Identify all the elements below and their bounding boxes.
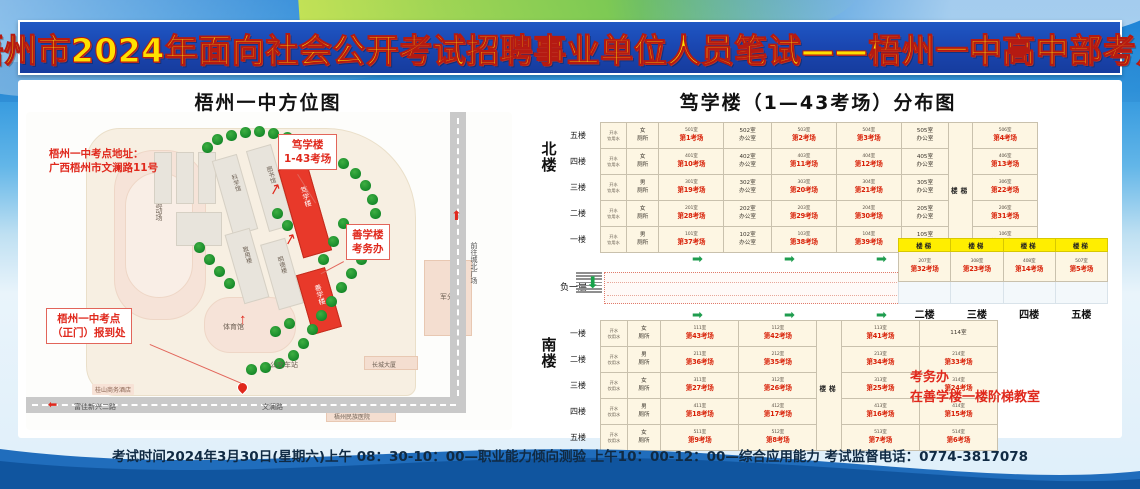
north-floor-labels: 五楼四楼三楼二楼一楼 (570, 122, 586, 252)
room-cell: 202室办公室 (724, 201, 772, 227)
floor-label-四楼: 四楼 (570, 148, 586, 174)
stair-landing-table: 楼梯楼梯楼梯楼梯207室第32考场308室第23考场408室第14考场507室第… (898, 238, 1108, 321)
tree (328, 236, 339, 247)
floor-label-二楼: 二楼 (570, 200, 586, 226)
spacer-cell (899, 282, 951, 304)
north-building-table: 开水饮用水女厕所501室第1考场502室办公室503室第2考场504室第3考场5… (600, 122, 1038, 253)
tree (214, 266, 225, 277)
floor-label-三楼: 三楼 (570, 372, 586, 398)
room-cell: 开水饮用水 (601, 201, 627, 227)
content-panel: 梧州一中方位图 运动场 体育馆 科学馆 (18, 80, 1122, 438)
tree (272, 208, 283, 219)
room-cell: 413室第16考场 (841, 399, 919, 425)
map-label-to-north-square: 前往城北广场 (469, 242, 479, 284)
tree (338, 158, 349, 169)
stair-header-cell: 楼梯 (951, 239, 1003, 252)
tree (350, 168, 361, 179)
tree (316, 310, 327, 321)
road-centerline-right (457, 118, 459, 396)
tree (367, 194, 378, 205)
floor-label-三楼: 三楼 (951, 304, 1003, 322)
room-cell: 113室第41考场 (841, 321, 919, 347)
room-cell: 开水饮用水 (601, 149, 627, 175)
tree (194, 242, 205, 253)
callout-duxue-line2: 1-43考场 (284, 153, 331, 165)
note-line1: 考务办 (910, 370, 949, 385)
tree (202, 142, 213, 153)
room-cell: 101室第37考场 (659, 227, 724, 253)
callout-duxue-building: 笃学楼 1-43考场 (278, 134, 337, 170)
room-cell: 311室第27考场 (661, 373, 739, 399)
callout-gate-line2: （正门）报到处 (52, 327, 126, 339)
room-cell: 114室 (919, 321, 997, 347)
room-cell: 306室第22考场 (973, 175, 1038, 201)
room-cell: 开水饮用水 (601, 347, 628, 373)
table-row: 开水饮用水女厕所501室第1考场502室办公室503室第2考场504室第3考场5… (601, 123, 1038, 149)
room-cell: 207室第32考场 (899, 252, 951, 282)
road-arrow-left-icon: ⬅ (48, 398, 57, 411)
callout-duxue-line1: 笃学楼 (292, 139, 324, 151)
room-cell: 403室第11考场 (771, 149, 836, 175)
room-cell: 205室办公室 (901, 201, 949, 227)
flow-arrow-3-icon: ➡ (876, 252, 887, 265)
room-cell: 507室第5考场 (1055, 252, 1107, 282)
tree (298, 338, 309, 349)
room-cell: 402室办公室 (724, 149, 772, 175)
room-cell: 501室第1考场 (659, 123, 724, 149)
tree (336, 282, 347, 293)
room-cell: 308室第23考场 (951, 252, 1003, 282)
tree (270, 326, 281, 337)
room-cell: 女厕所 (626, 201, 658, 227)
tree (224, 278, 235, 289)
basement-stair-arrow-icon: ⬇ (586, 276, 599, 292)
callout-gate-line1: 梧州一中考点 (57, 313, 120, 325)
tree (346, 268, 357, 279)
room-cell: 206室第31考场 (973, 201, 1038, 227)
room-cell: 203室第29考场 (771, 201, 836, 227)
floor-label-二楼: 二楼 (899, 304, 951, 322)
address-line-2: 广西梧州市文澜路11号 (49, 162, 158, 174)
room-cell: 女厕所 (626, 123, 658, 149)
room-cell: 504室第3考场 (836, 123, 901, 149)
north-building-tag: 北 楼 (538, 142, 560, 174)
room-cell: 111室第43考场 (661, 321, 739, 347)
footer-bar: 考试时间2024年3月30日(星期六)上午 08：30-10：00—职业能力倾向… (0, 440, 1140, 470)
tree (360, 180, 371, 191)
room-cell: 505室办公室 (901, 123, 949, 149)
room-cell: 404室第12考场 (836, 149, 901, 175)
floor-label-一楼: 一楼 (570, 320, 586, 346)
title-banner: 梧州市2024年面向社会公开考试招聘事业单位人员笔试——梧州一中高中部考点 (18, 20, 1122, 75)
callout-shanxue-line1: 善学楼 (352, 229, 384, 241)
tree (284, 318, 295, 329)
campus-map-panel: 梧州一中方位图 运动场 体育馆 科学馆 (18, 80, 518, 438)
room-cell: 411室第18考场 (661, 399, 739, 425)
room-cell: 408室第14考场 (1003, 252, 1055, 282)
floor-label-五楼: 五楼 (1055, 304, 1107, 322)
tree (307, 324, 318, 335)
room-cell: 男厕所 (626, 227, 658, 253)
room-cell: 开水饮用水 (601, 227, 627, 253)
room-cell: 男厕所 (626, 175, 658, 201)
floor-label-五楼: 五楼 (570, 122, 586, 148)
floor-label-四楼: 四楼 (570, 398, 586, 424)
table-row: 开水饮用水女厕所201室第28考场202室办公室203室第29考场204室第30… (601, 201, 1038, 227)
room-cell: 男厕所 (627, 399, 660, 425)
room-cell: 104室第39考场 (836, 227, 901, 253)
room-cell: 401室第10考场 (659, 149, 724, 175)
stair-header-cell: 楼梯 (899, 239, 951, 252)
plan-heading: 笃学楼（1—43考场）分布图 (578, 88, 1058, 115)
room-cell: 211室第36考场 (661, 347, 739, 373)
corridor-side-label (568, 266, 574, 267)
table-row: 开水饮用水女厕所111室第43考场112室第42考场楼梯113室第41考场114… (601, 321, 998, 347)
map-label-hospital: 梧州民族医院 (334, 412, 370, 421)
table-row: 开水饮用水男厕所301室第19考场302室办公室303室第20考场304室第21… (601, 175, 1038, 201)
table-row: 楼梯楼梯楼梯楼梯 (899, 239, 1108, 252)
room-cell: 开水饮用水 (601, 123, 627, 149)
room-cell: 女厕所 (627, 321, 660, 347)
room-cell: 开水饮用水 (601, 373, 628, 399)
stair-header-cell: 楼梯 (1003, 239, 1055, 252)
map-label-changcheng: 长城大厦 (372, 360, 396, 369)
note-line2: 在善学楼一楼阶梯教室 (910, 390, 1040, 405)
room-cell: 503室第2考场 (771, 123, 836, 149)
tree (240, 127, 251, 138)
room-cell: 312室第26考场 (739, 373, 817, 399)
floor-plan-panel: 笃学楼（1—43考场）分布图 北 楼 五楼四楼三楼二楼一楼 开水饮用水女厕所50… (518, 80, 1122, 438)
room-cell: 201室第28考场 (659, 201, 724, 227)
table-row (899, 282, 1108, 304)
room-cell: 412室第17考场 (739, 399, 817, 425)
south-building-tag: 南 楼 (538, 338, 560, 370)
callout-address: 梧州一中考点地址： 广西梧州市文澜路11号 (44, 144, 163, 178)
room-cell: 103室第38考场 (771, 227, 836, 253)
room-cell: 301室第19考场 (659, 175, 724, 201)
room-cell: 313室第25考场 (841, 373, 919, 399)
exam-time-footer: 考试时间2024年3月30日(星期六)上午 08：30-10：00—职业能力倾向… (112, 445, 1028, 465)
building-block-b (176, 152, 194, 204)
tree (246, 364, 257, 375)
room-cell: 506室第4考场 (973, 123, 1038, 149)
room-cell: 305室办公室 (901, 175, 949, 201)
north-tag-line2: 楼 (541, 156, 556, 174)
map-label-road-wenlan: 文澜路 (262, 402, 283, 412)
spacer-cell (1003, 282, 1055, 304)
room-cell: 男厕所 (627, 347, 660, 373)
tree (212, 134, 223, 145)
room-cell: 304室第21考场 (836, 175, 901, 201)
tree (204, 254, 215, 265)
floor-label-四楼: 四楼 (1003, 304, 1055, 322)
room-cell: 开水饮用水 (601, 399, 628, 425)
room-cell: 405室办公室 (901, 149, 949, 175)
map-label-hotel: 桂山商务酒店 (92, 384, 134, 395)
callout-shanxue-line2: 考务办 (352, 243, 384, 255)
tree (226, 130, 237, 141)
south-tag-line2: 楼 (541, 352, 556, 370)
flow-arrow-1-icon: ➡ (692, 252, 703, 265)
exam-office-note: 考务办 在善学楼一楼阶梯教室 (910, 368, 1040, 408)
road-arrow-up-icon: ⬆ (451, 208, 462, 224)
poster-root: 梧州市2024年面向社会公开考试招聘事业单位人员笔试——梧州一中高中部考点 梧州… (0, 0, 1140, 489)
map-label-busstation: 公交车站 (270, 360, 298, 370)
tree (318, 254, 329, 265)
table-row: 207室第32考场308室第23考场408室第14考场507室第5考场 (899, 252, 1108, 282)
tree (282, 220, 293, 231)
page-title: 梧州市2024年面向社会公开考试招聘事业单位人员笔试——梧州一中高中部考点 (0, 24, 1140, 72)
table-row: 二楼三楼四楼五楼 (899, 304, 1108, 322)
room-cell: 204室第30考场 (836, 201, 901, 227)
spacer-cell (951, 282, 1003, 304)
room-cell: 102室办公室 (724, 227, 772, 253)
room-cell: 女厕所 (627, 373, 660, 399)
campus-map-canvas: 运动场 体育馆 科学馆 图书馆 笃学楼 致用楼 明德楼 (26, 112, 512, 430)
callout-main-gate: 梧州一中考点 （正门）报到处 (46, 308, 132, 344)
floor-label-三楼: 三楼 (570, 174, 586, 200)
building-block-d (176, 212, 222, 246)
room-cell: 406室第13考场 (973, 149, 1038, 175)
room-cell: 开水饮用水 (601, 321, 628, 347)
room-cell: 213室第34考场 (841, 347, 919, 373)
room-cell: 502室办公室 (724, 123, 772, 149)
address-line-1: 梧州一中考点地址： (49, 148, 144, 160)
spacer-cell (1055, 282, 1107, 304)
room-cell: 212室第35考场 (739, 347, 817, 373)
tree (254, 126, 265, 137)
tree (326, 296, 337, 307)
flow-arrow-2-icon: ➡ (784, 252, 795, 265)
map-label-road-fujia: 富佳新兴二路 (74, 402, 116, 412)
room-cell: 302室办公室 (724, 175, 772, 201)
room-cell: 女厕所 (626, 149, 658, 175)
floor-label-一楼: 一楼 (570, 226, 586, 252)
callout-shanxue-building: 善学楼 考务办 (346, 224, 390, 260)
table-row: 开水饮用水女厕所401室第10考场402室办公室403室第11考场404室第12… (601, 149, 1038, 175)
room-cell: 开水饮用水 (601, 175, 627, 201)
room-cell: 112室第42考场 (739, 321, 817, 347)
map-heading: 梧州一中方位图 (108, 88, 428, 115)
floor-label-二楼: 二楼 (570, 346, 586, 372)
stair-header-cell: 楼梯 (1055, 239, 1107, 252)
tree (370, 208, 381, 219)
campus-arrow-3: ↑ (239, 312, 247, 327)
stair-cell: 楼梯 (949, 123, 973, 253)
room-cell: 303室第20考场 (771, 175, 836, 201)
